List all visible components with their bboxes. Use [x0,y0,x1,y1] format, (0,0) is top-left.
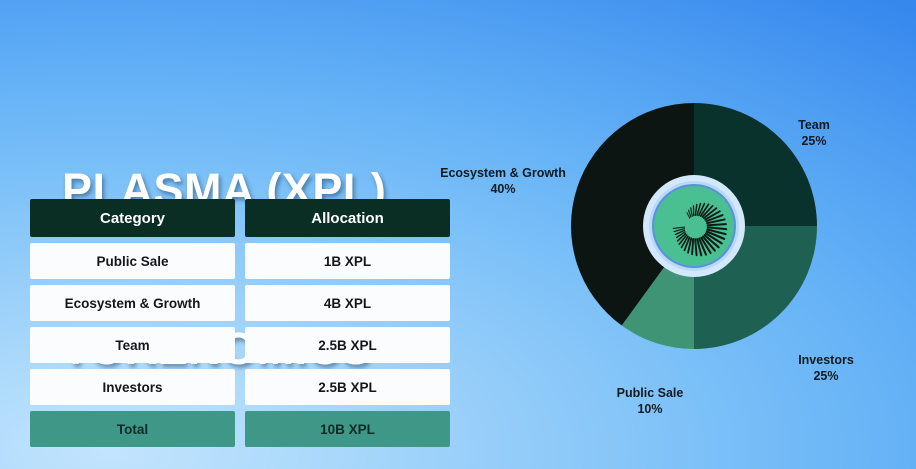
table-row: Investors 2.5B XPL [30,369,450,405]
table-row: Team 2.5B XPL [30,327,450,363]
cell-category: Public Sale [30,243,235,279]
chart-label-public-sale: Public Sale 10% [592,386,708,417]
logo-spoke [708,224,726,225]
table-row: Ecosystem & Growth 4B XPL [30,285,450,321]
cell-category: Ecosystem & Growth [30,285,235,321]
plasma-logo-icon [642,174,746,278]
cell-allocation: 1B XPL [245,243,450,279]
column-header-allocation: Allocation [245,199,450,237]
chart-label-team: Team 25% [766,118,862,149]
cell-allocation: 4B XPL [245,285,450,321]
table-row: Public Sale 1B XPL [30,243,450,279]
cell-total-allocation: 10B XPL [245,411,450,447]
cell-total-label: Total [30,411,235,447]
table-header-row: Category Allocation [30,199,450,237]
logo-spoke [692,239,693,254]
tokenomics-table: Category Allocation Public Sale 1B XPL E… [30,199,450,447]
column-header-category: Category [30,199,235,237]
cell-allocation: 2.5B XPL [245,369,450,405]
cell-category: Team [30,327,235,363]
chart-label-investors: Investors 25% [776,353,876,384]
cell-allocation: 2.5B XPL [245,327,450,363]
infographic-canvas: PLASMA (XPL) TOKENOMICS Category Allocat… [0,0,916,469]
table-total-row: Total 10B XPL [30,411,450,447]
cell-category: Investors [30,369,235,405]
chart-label-ecosystem: Ecosystem & Growth 40% [423,166,583,197]
